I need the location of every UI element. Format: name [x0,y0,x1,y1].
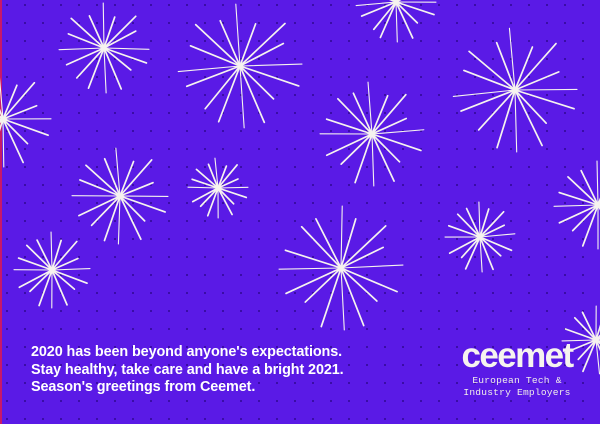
starburst-ray [59,48,104,50]
starburst-ray [240,23,285,66]
starburst-ray [341,268,377,301]
starburst-ray [218,187,248,188]
starburst-icon [554,161,600,249]
starburst-ray [71,18,104,48]
starburst-ray [515,89,577,90]
starburst-ray [0,119,3,164]
starburst-ray [479,202,480,237]
starburst-ray [364,0,396,2]
tagline-line-1: European Tech & [452,375,582,387]
greeting-message: 2020 has been beyond anyone's expectatio… [31,344,344,397]
message-line-1: 2020 has been beyond anyone's expectatio… [31,344,344,362]
starburst-ray [554,205,598,206]
starburst-icon [279,206,403,330]
starburst-ray [3,119,4,167]
starburst-ray [77,48,104,78]
starburst-ray [515,90,542,145]
starburst-ray [52,269,90,270]
tagline-line-2: Industry Employers [452,387,582,399]
starburst-ray [86,165,120,196]
starburst-ray [341,265,403,268]
starburst-icon [356,0,436,42]
starburst-ray [104,48,149,49]
logo-wordmark: ceemet [452,341,582,371]
starburst-icon [188,158,248,218]
starburst-icon [72,148,168,244]
starburst-ray [396,2,397,42]
starburst-ray [103,3,104,48]
starburst-icon [59,3,149,93]
starburst-ray [573,205,598,231]
message-line-3: Season's greetings from Ceemet. [31,379,344,397]
starburst-icon [178,4,302,128]
starburst-ray [464,70,515,90]
starburst-ray [341,206,342,268]
starburst-ray [372,95,406,134]
starburst-icon [320,82,424,186]
starburst-ray [196,25,240,66]
starburst-ray [372,134,374,186]
starburst-ray [341,247,383,268]
message-line-2: Stay healthy, take care and have a brigh… [31,362,344,380]
starburst-ray [118,196,120,244]
starburst-ray [120,160,152,196]
starburst-ray [219,66,240,122]
starburst-ray [279,268,341,269]
greeting-card: 2020 has been beyond anyone's expectatio… [0,0,600,424]
starburst-ray [51,232,52,270]
starburst-icon [445,202,515,272]
logo-tagline: European Tech & Industry Employers [452,375,582,398]
starburst-ray [597,161,598,205]
starburst-ray [515,44,556,90]
starburst-ray [286,268,341,293]
starburst-icon [14,232,90,308]
starburst-ray [462,237,480,257]
starburst-ray [515,90,517,152]
starburst-ray [240,64,302,66]
starburst-ray [240,66,299,86]
starburst-icon [0,71,51,167]
starburst-ray [104,48,106,93]
starburst-icon [453,28,577,152]
starburst-ray [104,48,146,63]
ceemet-logo: ceemet European Tech & Industry Employer… [452,341,582,398]
